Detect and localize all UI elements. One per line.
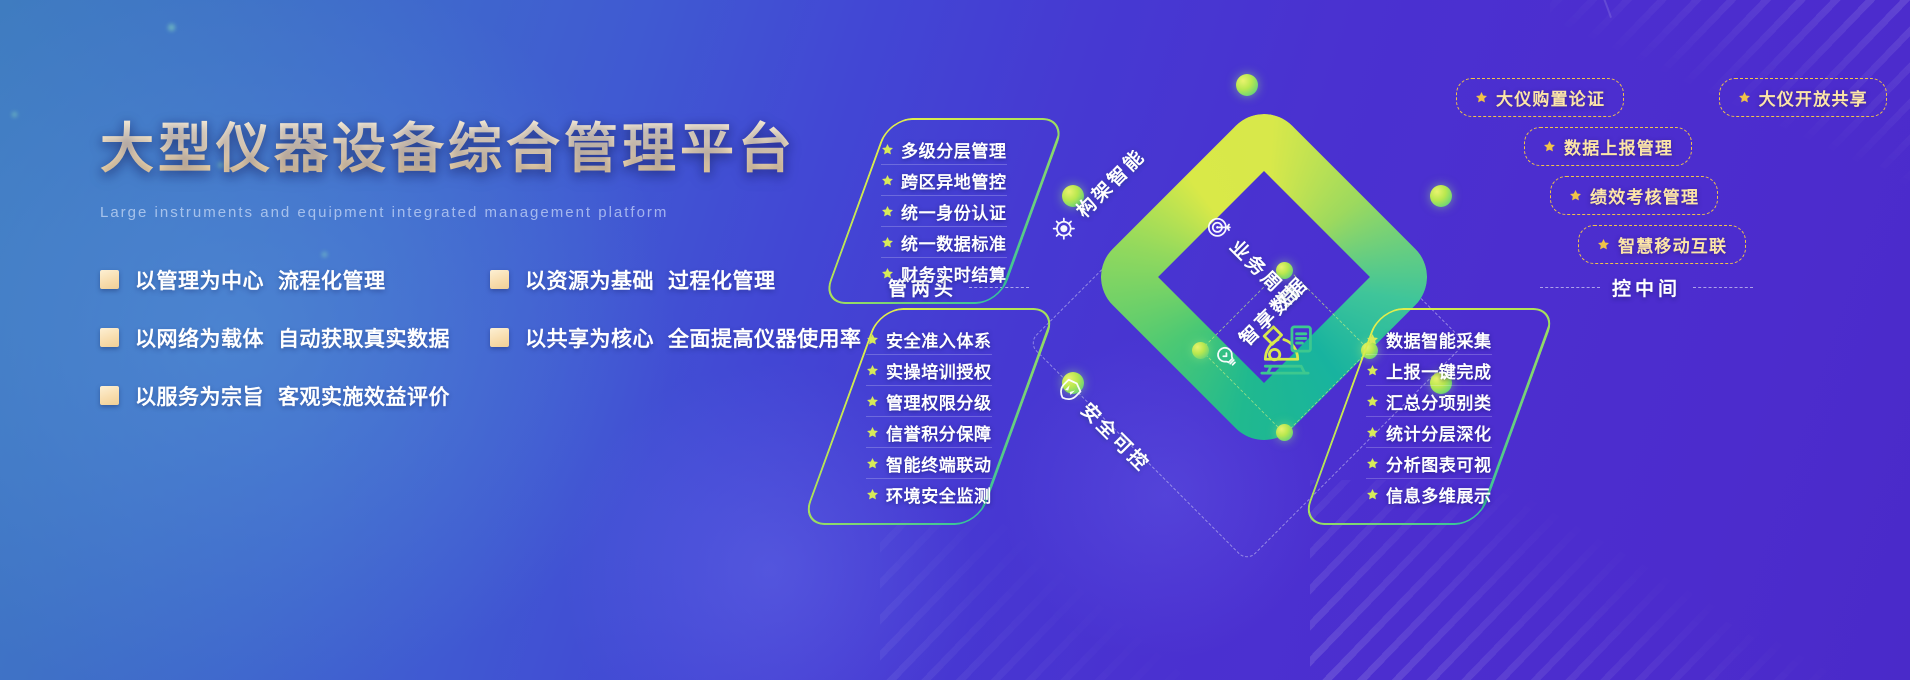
feature-text: 以共享为核心全面提高仪器使用率 xyxy=(525,323,862,353)
bullet-square-icon xyxy=(490,270,509,289)
star-icon xyxy=(1569,189,1582,202)
branch-item[interactable]: 数据智能采集 xyxy=(1366,324,1492,354)
hero-text-panel: 大型仪器设备综合管理平台 Large instruments and equip… xyxy=(100,118,900,411)
branch-item-label: 统一身份认证 xyxy=(901,199,1007,224)
star-icon xyxy=(866,364,879,377)
feature-text: 以网络为载体自动获取真实数据 xyxy=(135,323,450,353)
branch-item-label: 安全准入体系 xyxy=(886,327,992,352)
quadrant-label: 构架智能 xyxy=(1069,142,1150,223)
branch-item[interactable]: 统一数据标准 xyxy=(881,226,1007,257)
star-icon xyxy=(881,236,894,249)
branch-item-list: 数据智能采集 上报一键完成 汇总分项别类 统计分层深化 分析图表可视 xyxy=(1366,324,1492,509)
star-icon xyxy=(866,457,879,470)
star-icon xyxy=(1366,457,1379,470)
branch-item-list: 安全准入体系 实操培训授权 管理权限分级 信誉积分保障 智能终端联动 xyxy=(866,324,992,509)
dashed-connector xyxy=(1693,287,1753,288)
feature-list: 以管理为中心流程化管理 以资源为基础过程化管理 以网络为载体自动获取真实数据 以… xyxy=(100,265,900,411)
pill-item[interactable]: 大仪开放共享 xyxy=(1719,78,1887,117)
axis-right-text: 控中间 xyxy=(1612,274,1681,301)
pill-label: 智慧移动互联 xyxy=(1618,232,1727,257)
star-icon xyxy=(1366,395,1379,408)
branch-item[interactable]: 统一身份认证 xyxy=(881,195,1007,226)
branch-item[interactable]: 环境安全监测 xyxy=(866,478,992,509)
star-icon xyxy=(1366,364,1379,377)
decorative-spark xyxy=(168,24,175,31)
star-icon xyxy=(1366,426,1379,439)
branch-item-label: 数据智能采集 xyxy=(1386,327,1492,352)
bullet-square-icon xyxy=(100,386,119,405)
branch-item-label: 统计分层深化 xyxy=(1386,420,1492,445)
pill-label: 绩效考核管理 xyxy=(1590,183,1699,208)
branch-item[interactable]: 汇总分项别类 xyxy=(1366,385,1492,416)
branch-item-label: 上报一键完成 xyxy=(1386,358,1492,383)
branch-item-label: 分析图表可视 xyxy=(1386,451,1492,476)
pill-item[interactable]: 智慧移动互联 xyxy=(1578,225,1746,264)
branch-item-label: 财务实时结算 xyxy=(901,261,1007,286)
star-icon xyxy=(881,143,894,156)
feature-item: 以共享为核心全面提高仪器使用率 xyxy=(490,323,900,353)
branch-item[interactable]: 财务实时结算 xyxy=(881,257,1007,288)
branch-item-label: 信息多维展示 xyxy=(1386,482,1492,507)
star-icon xyxy=(1366,333,1379,346)
pill-item[interactable]: 数据上报管理 xyxy=(1524,127,1692,166)
gear-icon xyxy=(1046,211,1081,246)
feature-item: 以管理为中心流程化管理 xyxy=(100,265,490,295)
feature-text: 以资源为基础过程化管理 xyxy=(525,265,776,295)
axis-label-right: 控中间 xyxy=(1540,274,1753,301)
pill-label: 数据上报管理 xyxy=(1564,134,1673,159)
branch-item-list: 多级分层管理 跨区异地管控 统一身份认证 统一数据标准 财务实时结算 xyxy=(881,134,1007,288)
pill-label: 大仪开放共享 xyxy=(1759,85,1868,110)
feature-text: 以服务为宗旨客观实施效益评价 xyxy=(135,381,450,411)
branch-item-label: 多级分层管理 xyxy=(901,137,1007,162)
star-icon xyxy=(881,205,894,218)
banner-hero: 大型仪器设备综合管理平台 Large instruments and equip… xyxy=(0,0,1910,680)
feature-item: 以网络为载体自动获取真实数据 xyxy=(100,323,490,353)
branch-item[interactable]: 管理权限分级 xyxy=(866,385,992,416)
branch-item[interactable]: 多级分层管理 xyxy=(881,134,1007,164)
branch-item-label: 跨区异地管控 xyxy=(901,168,1007,193)
bullet-square-icon xyxy=(100,270,119,289)
star-icon xyxy=(1543,140,1556,153)
pill-item[interactable]: 绩效考核管理 xyxy=(1550,176,1718,215)
branch-item-label: 信誉积分保障 xyxy=(886,420,992,445)
branch-item[interactable]: 分析图表可视 xyxy=(1366,447,1492,478)
pill-list-top-right: 大仪购置论证 大仪开放共享 数据上报管理 绩效考核管理 智慧移动互联 xyxy=(1400,78,1910,274)
star-icon xyxy=(1597,238,1610,251)
page-subtitle: Large instruments and equipment integrat… xyxy=(100,204,900,221)
star-icon xyxy=(881,174,894,187)
branch-item[interactable]: 智能终端联动 xyxy=(866,447,992,478)
branch-item[interactable]: 上报一键完成 xyxy=(1366,354,1492,385)
branch-item-label: 智能终端联动 xyxy=(886,451,992,476)
branch-item[interactable]: 统计分层深化 xyxy=(1366,416,1492,447)
feature-text: 以管理为中心流程化管理 xyxy=(135,265,386,295)
star-icon xyxy=(1366,488,1379,501)
bullet-square-icon xyxy=(490,328,509,347)
dashed-connector xyxy=(1540,287,1600,288)
branch-item[interactable]: 信息多维展示 xyxy=(1366,478,1492,509)
diagram-node-dot xyxy=(1236,74,1258,96)
star-icon xyxy=(1738,91,1751,104)
inner-node-dot xyxy=(1276,424,1293,441)
bullet-square-icon xyxy=(100,328,119,347)
pill-label: 大仪购置论证 xyxy=(1496,85,1605,110)
branch-top-left: 多级分层管理 跨区异地管控 统一身份认证 统一数据标准 财务实时结算 xyxy=(821,118,1066,304)
star-icon xyxy=(881,267,894,280)
branch-item[interactable]: 安全准入体系 xyxy=(866,324,992,354)
feature-item: 以服务为宗旨客观实施效益评价 xyxy=(100,381,490,411)
branch-item[interactable]: 信誉积分保障 xyxy=(866,416,992,447)
branch-item-label: 实操培训授权 xyxy=(886,358,992,383)
architecture-diagram: 构架智能 业务周期 安全可控 xyxy=(840,0,1910,680)
inner-node-dot xyxy=(1192,342,1209,359)
page-title: 大型仪器设备综合管理平台 xyxy=(100,118,900,182)
star-icon xyxy=(866,488,879,501)
branch-item[interactable]: 跨区异地管控 xyxy=(881,164,1007,195)
branch-item[interactable]: 实操培训授权 xyxy=(866,354,992,385)
decorative-spark xyxy=(12,112,17,117)
star-icon xyxy=(866,333,879,346)
star-icon xyxy=(866,426,879,439)
branch-item-label: 管理权限分级 xyxy=(886,389,992,414)
star-icon xyxy=(1475,91,1488,104)
pill-item[interactable]: 大仪购置论证 xyxy=(1456,78,1624,117)
branch-item-label: 统一数据标准 xyxy=(901,230,1007,255)
branch-item-label: 汇总分项别类 xyxy=(1386,389,1492,414)
star-icon xyxy=(866,395,879,408)
branch-item-label: 环境安全监测 xyxy=(886,482,992,507)
